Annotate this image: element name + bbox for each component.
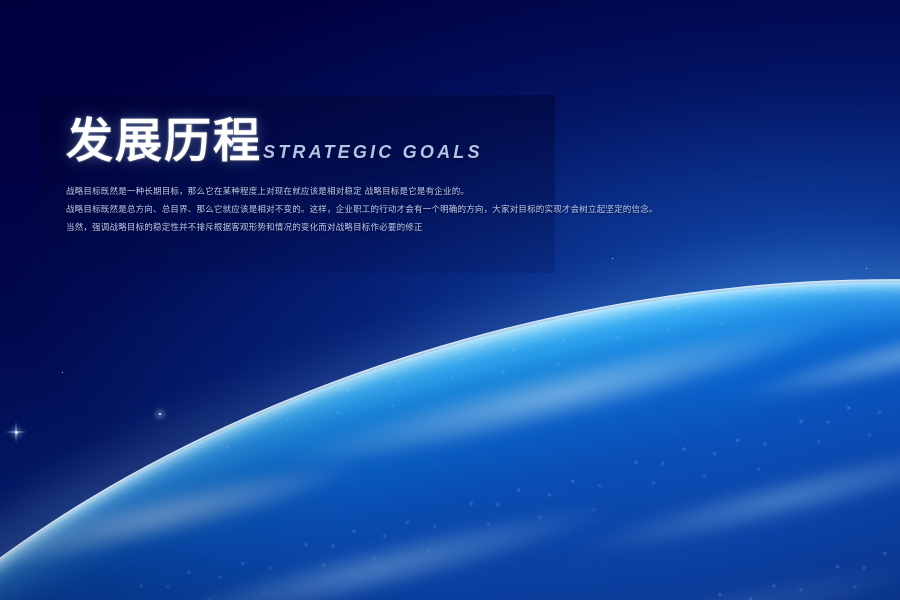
body-copy-line: 战略目标既然是一种长期目标，那么它在某种程度上对现在就应该是相对稳定 战略目标是… <box>66 186 596 199</box>
star-flare-left-icon <box>15 431 18 434</box>
page-subtitle: STRATEGIC GOALS <box>263 143 483 165</box>
star-far-left-icon <box>62 372 63 373</box>
page-title: 发展历程 <box>66 118 262 165</box>
body-copy: 战略目标既然是一种长期目标，那么它在某种程度上对现在就应该是相对稳定 战略目标是… <box>66 186 596 240</box>
hero-banner: 发展历程 STRATEGIC GOALS 战略目标既然是一种长期目标，那么它在某… <box>0 0 900 600</box>
star-upper-mid-icon <box>612 258 613 259</box>
body-copy-line: 当然，强调战略目标的稳定性并不排斥根据客观形势和情况的变化而对战略目标作必要的修… <box>66 222 596 235</box>
body-copy-line: 战略目标既然是总方向、总目界、那么它就应该是相对不变的。这样，企业职工的行动才会… <box>66 204 596 217</box>
headline-group: 发展历程 STRATEGIC GOALS <box>66 118 483 165</box>
